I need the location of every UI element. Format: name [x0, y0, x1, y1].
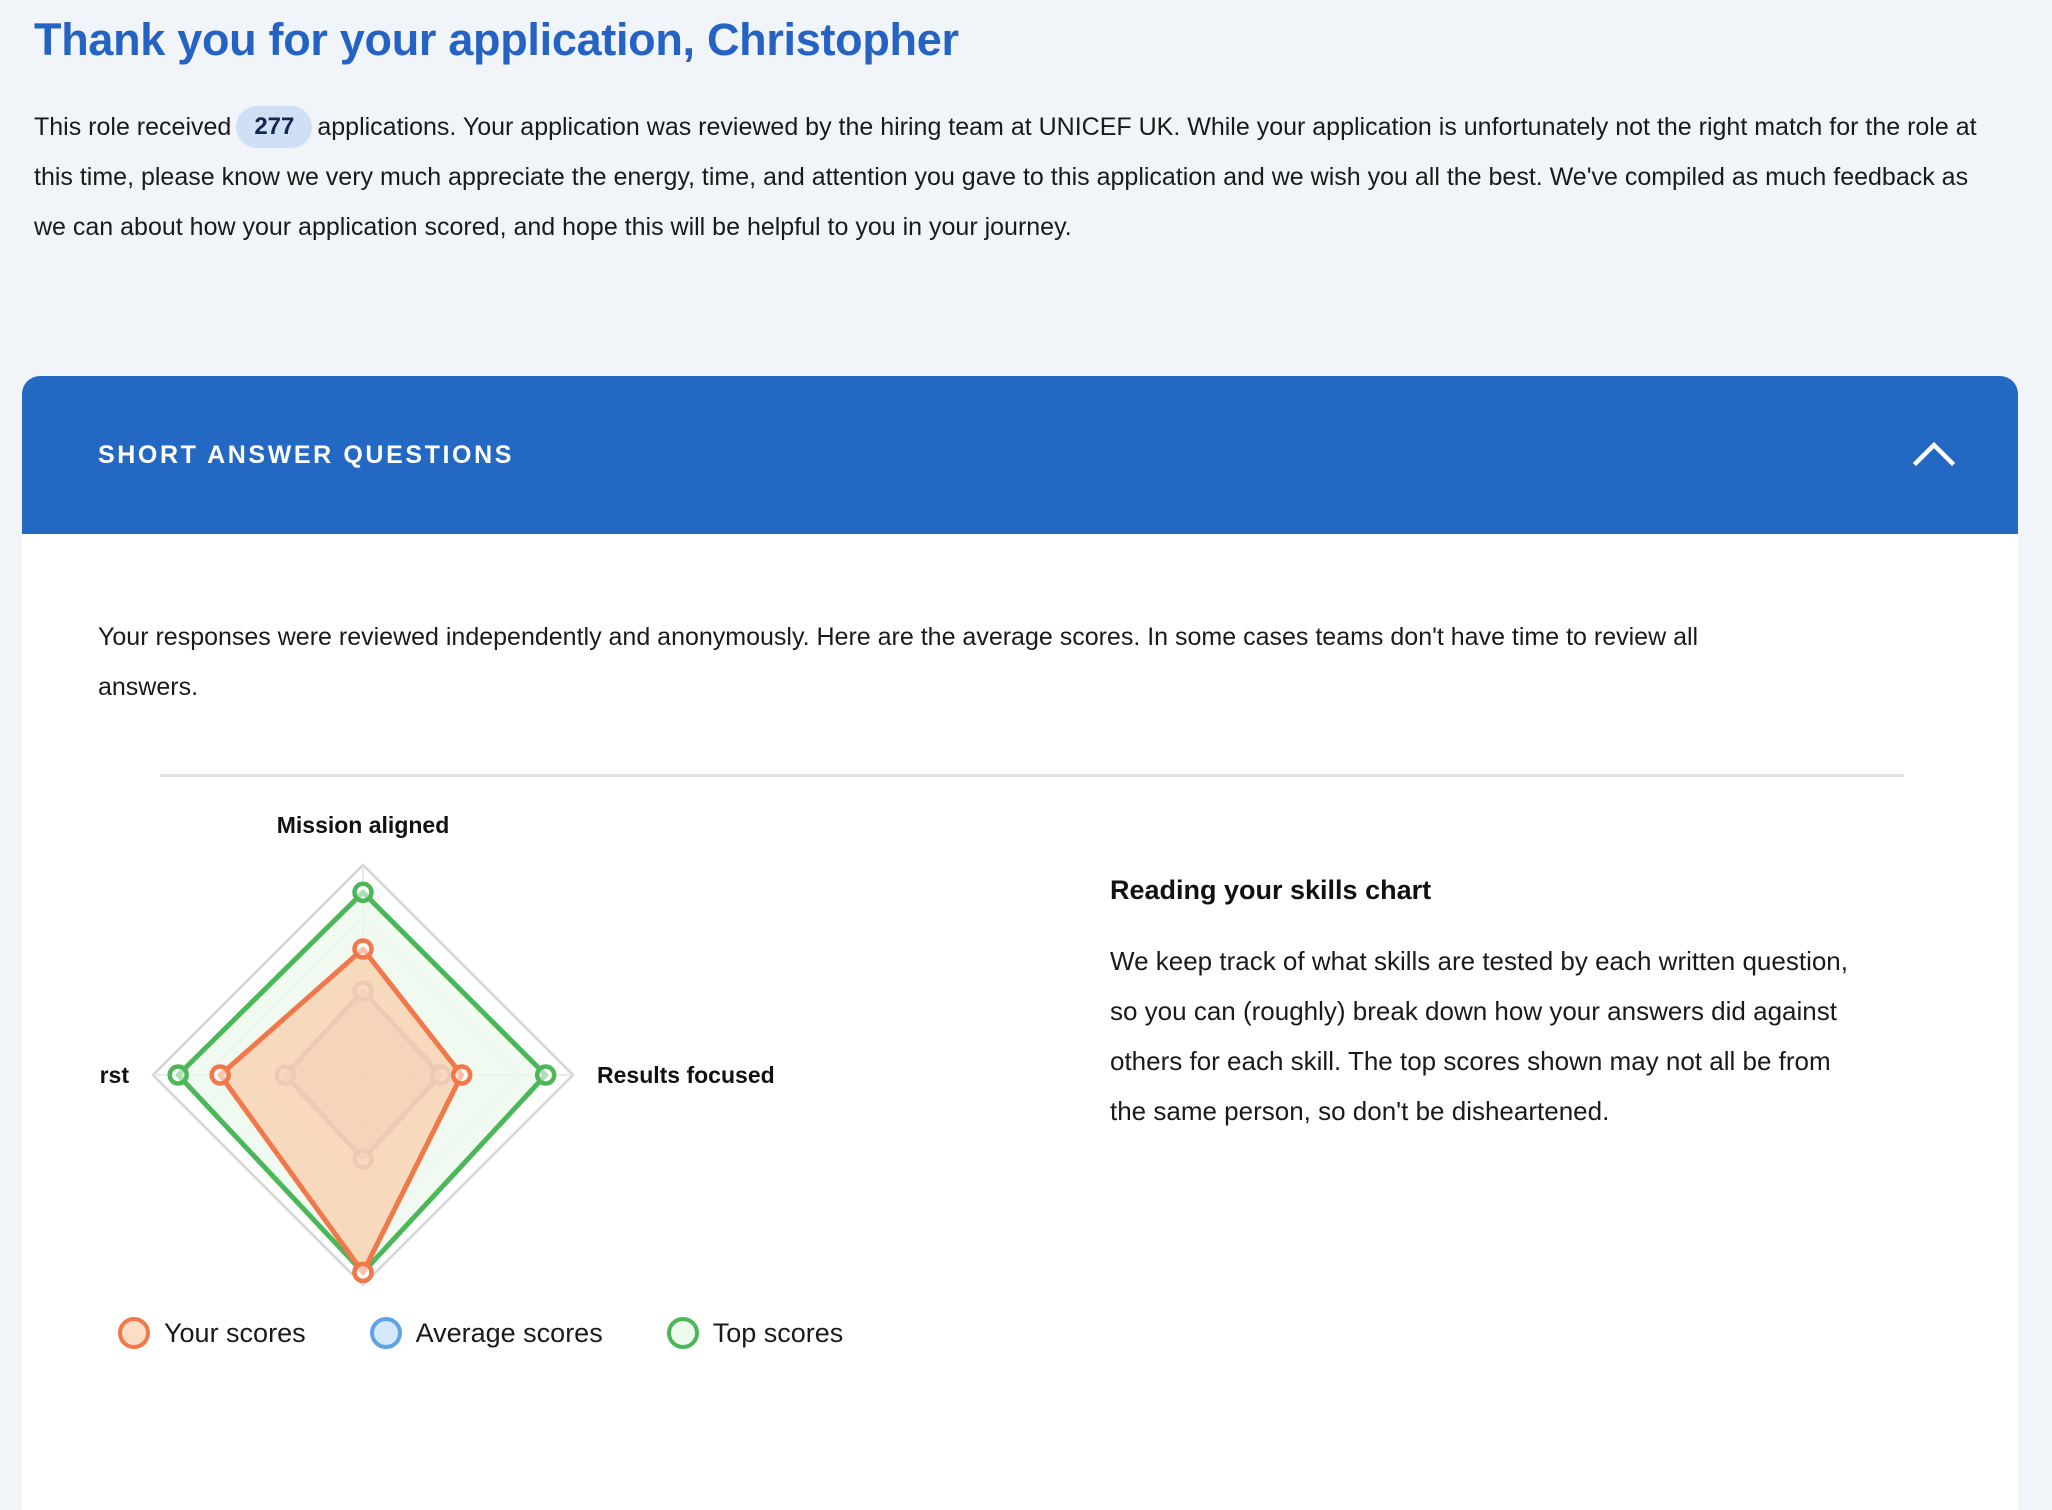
application-count-badge: 277 — [236, 106, 312, 148]
radar-axis-label: Digital first — [98, 1062, 129, 1088]
chart-legend: Your scores Average scores Top scores — [98, 1303, 1098, 1349]
radar-point — [170, 1067, 187, 1084]
radar-point — [212, 1067, 229, 1084]
radar-svg: Mission alignedResults focusedLeadership… — [98, 803, 1098, 1303]
chevron-up-icon[interactable] — [1906, 427, 1962, 483]
radar-point — [453, 1067, 470, 1084]
section-header-title: SHORT ANSWER QUESTIONS — [98, 441, 514, 470]
legend-item[interactable]: Top scores — [667, 1317, 844, 1349]
short-answer-questions-card: SHORT ANSWER QUESTIONS Your responses we… — [22, 376, 2018, 1510]
legend-label: Top scores — [713, 1318, 844, 1349]
radar-axis-label: Mission aligned — [277, 812, 450, 838]
section-header[interactable]: SHORT ANSWER QUESTIONS — [22, 376, 2018, 534]
application-feedback-page: Thank you for your application, Christop… — [0, 0, 2052, 1510]
legend-label: Average scores — [416, 1318, 603, 1349]
top-scores-swatch-icon — [667, 1317, 699, 1349]
legend-label: Your scores — [164, 1318, 306, 1349]
chart-row: Mission alignedResults focusedLeadership… — [98, 777, 1942, 1349]
legend-item[interactable]: Average scores — [370, 1317, 603, 1349]
reading-chart-explainer: Reading your skills chart We keep track … — [1098, 803, 1858, 1349]
radar-point — [355, 884, 372, 901]
your-scores-swatch-icon — [118, 1317, 150, 1349]
legend-item[interactable]: Your scores — [118, 1317, 306, 1349]
section-body: Your responses were reviewed independent… — [22, 534, 2018, 1349]
average-scores-swatch-icon — [370, 1317, 402, 1349]
explainer-heading: Reading your skills chart — [1110, 875, 1858, 906]
section-lede: Your responses were reviewed independent… — [98, 534, 1798, 712]
radar-point — [355, 1264, 372, 1281]
intro-before-count: This role received — [34, 113, 231, 141]
radar-point — [355, 941, 372, 958]
page-title: Thank you for your application, Christop… — [34, 0, 2018, 74]
intro-after-count: applications. Your application was revie… — [34, 113, 1977, 241]
radar-axis-label: Results focused — [597, 1062, 775, 1088]
skills-radar-chart: Mission alignedResults focusedLeadership… — [98, 803, 1098, 1349]
intro-paragraph: This role received277applications. Your … — [34, 74, 2004, 252]
intro-section: Thank you for your application, Christop… — [0, 0, 2052, 252]
explainer-body: We keep track of what skills are tested … — [1110, 906, 1858, 1136]
radar-point — [537, 1067, 554, 1084]
